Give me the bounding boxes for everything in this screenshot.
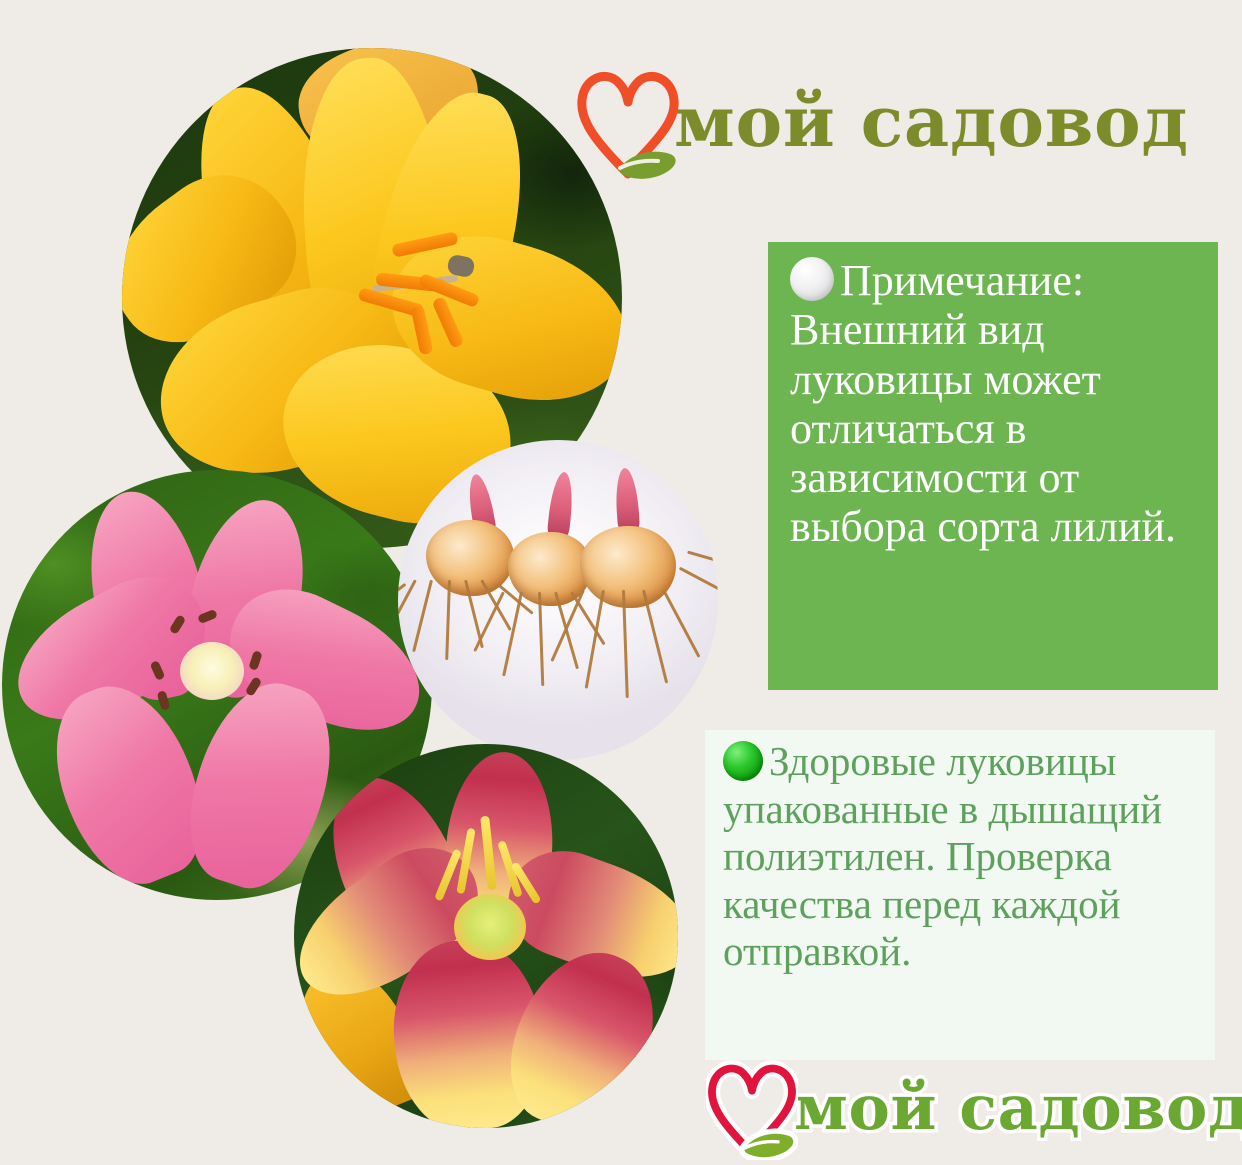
logo-mark-bottom <box>706 1056 798 1160</box>
brand-logo-top[interactable]: мой садовод <box>576 62 1189 182</box>
flower-center <box>454 894 526 960</box>
red-yellow-lily-background <box>294 744 678 1128</box>
quality-text: Здоровые луковицы упакованные в дышащий … <box>723 738 1201 976</box>
red-yellow-lily-photo <box>294 744 678 1128</box>
brand-logo-bottom[interactable]: мой садовод <box>706 1056 1242 1160</box>
green-circle-icon <box>723 741 763 781</box>
bulb-sprout <box>614 467 640 532</box>
quality-box: Здоровые луковицы упакованные в дышащий … <box>705 730 1215 1060</box>
logo-mark-top <box>576 62 680 182</box>
flower-center <box>180 642 244 700</box>
quality-text-value: Здоровые луковицы упакованные в дышащий … <box>723 738 1162 974</box>
white-circle-icon <box>790 257 834 301</box>
logo-wordmark-top: мой садовод <box>674 87 1189 157</box>
note-box: Примечание: Внешний вид луковицы может о… <box>768 242 1218 690</box>
note-text-value: Примечание: Внешний вид луковицы может о… <box>790 256 1176 551</box>
lily-bulbs-photo <box>398 440 718 760</box>
logo-wordmark-bottom: мой садовод <box>794 1077 1242 1139</box>
note-text: Примечание: Внешний вид луковицы может о… <box>790 256 1200 552</box>
bulb-roots <box>566 590 710 706</box>
bulbs-cloth-background <box>398 440 718 760</box>
bulb-sprout <box>547 471 576 539</box>
poster-canvas: мой садовод Примечание: Внешний вид луко… <box>0 0 1242 1164</box>
